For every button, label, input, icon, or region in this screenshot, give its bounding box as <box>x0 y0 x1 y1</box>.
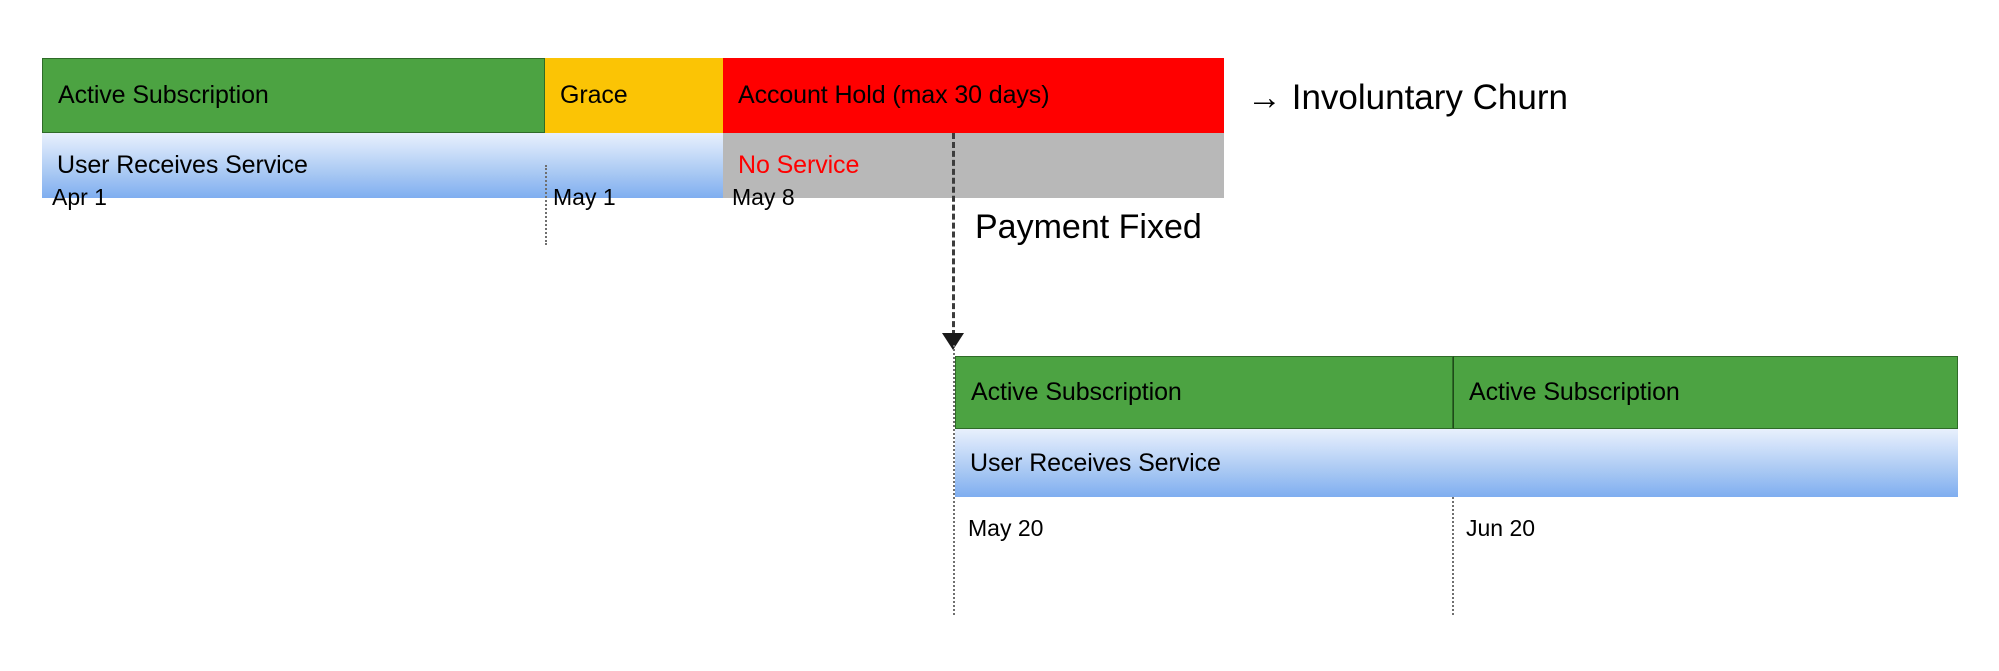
guide-line-may-20 <box>953 345 955 615</box>
branch-event-label-payment-fixed: Payment Fixed <box>975 210 1202 244</box>
guide-line-may-1 <box>545 165 547 245</box>
top-status-segment-account-hold[interactable]: Account Hold (max 30 days) <box>723 58 1224 133</box>
top-service-segment-no-service[interactable]: No Service <box>723 133 1224 198</box>
bottom-status-segment-active-subscription-1[interactable]: Active Subscription <box>955 356 1453 429</box>
date-label-may-1: May 1 <box>553 186 616 209</box>
date-label-apr-1: Apr 1 <box>52 186 107 209</box>
bottom-service-segment-user-receives-service[interactable]: User Receives Service <box>955 429 1958 497</box>
date-label-may-20: May 20 <box>968 517 1043 540</box>
segment-label: Grace <box>545 83 628 108</box>
segment-label: No Service <box>723 153 859 178</box>
top-status-segment-active-subscription[interactable]: Active Subscription <box>42 58 545 133</box>
outcome-label-involuntary-churn: → Involuntary Churn <box>1247 80 1568 115</box>
segment-label: Active Subscription <box>1454 380 1680 405</box>
bottom-status-segment-active-subscription-2[interactable]: Active Subscription <box>1453 356 1958 429</box>
guide-line-jun-20 <box>1452 497 1454 615</box>
segment-label: Active Subscription <box>43 83 269 108</box>
date-label-jun-20: Jun 20 <box>1466 517 1535 540</box>
branch-arrow-line <box>952 133 955 345</box>
top-service-segment-user-receives-service[interactable]: User Receives Service <box>42 133 723 198</box>
segment-label: Active Subscription <box>956 380 1182 405</box>
timeline-diagram-canvas: Active Subscription Grace Account Hold (… <box>0 0 1999 671</box>
segment-label: Account Hold (max 30 days) <box>723 83 1049 108</box>
date-label-may-8: May 8 <box>732 186 795 209</box>
segment-label: User Receives Service <box>955 451 1221 476</box>
top-status-segment-grace[interactable]: Grace <box>545 58 723 133</box>
segment-label: User Receives Service <box>42 153 308 178</box>
